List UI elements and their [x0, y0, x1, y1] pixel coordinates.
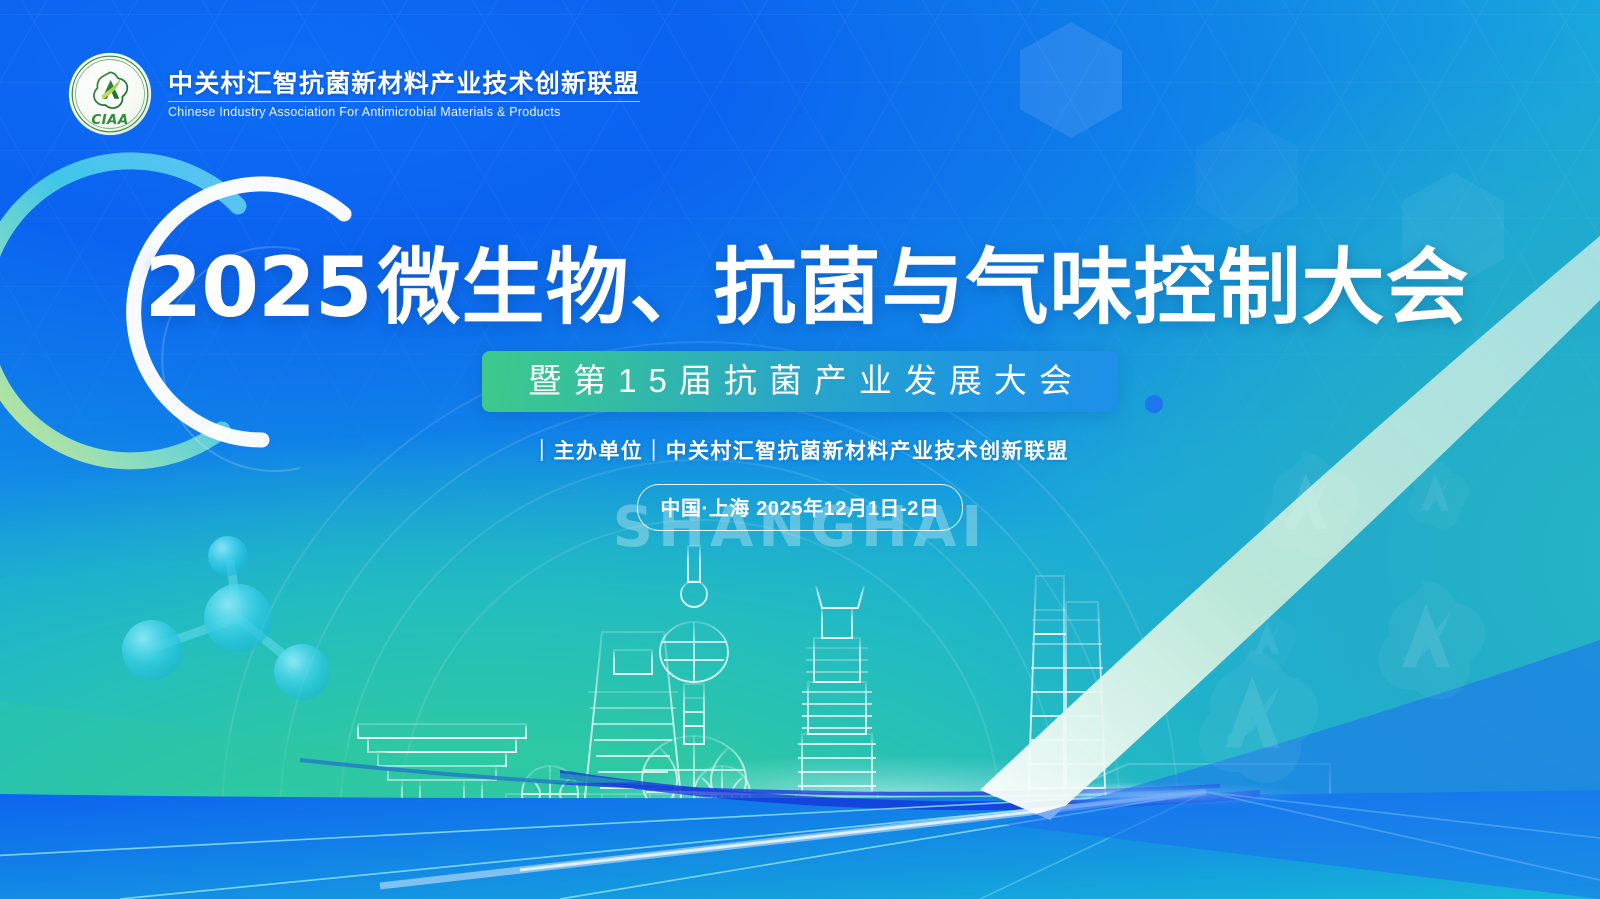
title-main-cn: 微生物、抗菌与气味控制大会	[378, 241, 1470, 334]
title-year: 2025	[144, 239, 371, 336]
brand-header: CIAA 中关村汇智抗菌新材料产业技术创新联盟 Chinese Industry…	[68, 52, 640, 136]
org-divider	[168, 101, 640, 102]
organizer-line: ｜主办单位｜中关村汇智抗菌新材料产业技术创新联盟	[0, 435, 1600, 465]
subtitle-badge: 暨第15届抗菌产业发展大会	[482, 351, 1118, 412]
date-location-badge: 中国·上海 2025年12月1日-2日	[637, 484, 962, 531]
org-name-en: Chinese Industry Association For Antimic…	[168, 105, 640, 120]
ciaa-star-emblem-icon: CIAA	[68, 52, 152, 136]
page-title: 2025微生物、抗菌与气味控制大会	[14, 246, 1600, 329]
org-identity: 中关村汇智抗菌新材料产业技术创新联盟 Chinese Industry Asso…	[168, 68, 640, 121]
date-location-wrap: 中国·上海 2025年12月1日-2日	[0, 484, 1600, 531]
svg-text:CIAA: CIAA	[91, 113, 128, 128]
org-name-cn: 中关村汇智抗菌新材料产业技术创新联盟	[168, 70, 640, 99]
conference-banner: CIAA 中关村汇智抗菌新材料产业技术创新联盟 Chinese Industry…	[0, 0, 1600, 899]
title-block: 2025微生物、抗菌与气味控制大会 暨第15届抗菌产业发展大会 ｜主办单位｜中关…	[0, 246, 1600, 531]
